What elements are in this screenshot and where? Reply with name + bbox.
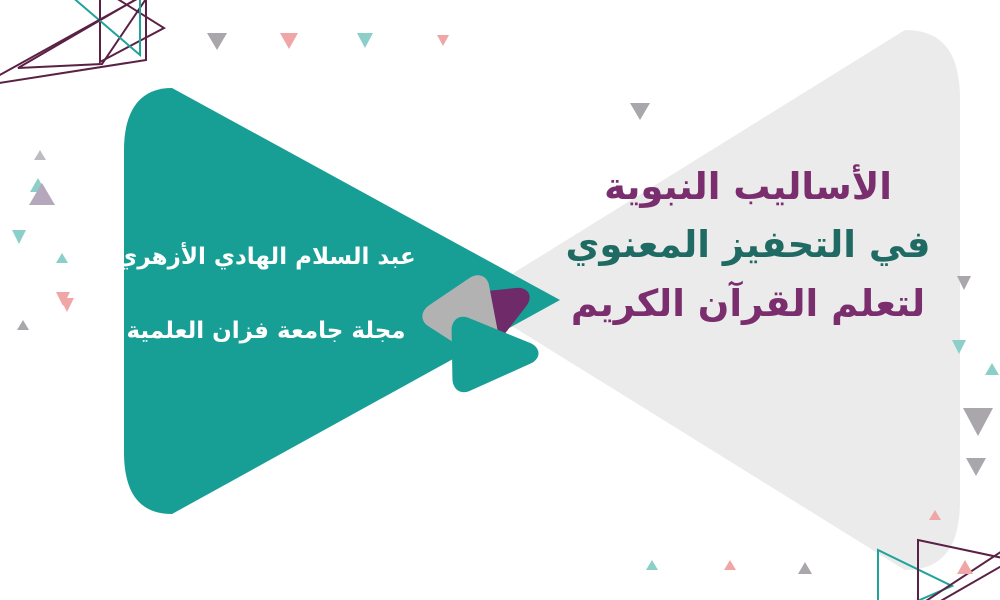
title-line-2: في التحفيز المعنوي [558, 216, 938, 274]
confetti-triangle-up [646, 560, 658, 570]
author-info: عبد السلام الهادي الأزهري مجلة جامعة فزا… [96, 243, 436, 347]
confetti-triangle-down [207, 33, 227, 50]
confetti-triangle-up [798, 562, 812, 574]
confetti-triangle-down [963, 408, 993, 436]
title-line-1: الأساليب النبوية [558, 158, 938, 216]
confetti-triangle-down [280, 33, 298, 49]
author-name: عبد السلام الهادي الأزهري [96, 243, 436, 273]
confetti-triangle-down [357, 33, 373, 48]
confetti-triangle-down [630, 103, 650, 120]
journal-name: مجلة جامعة فزان العلمية [96, 317, 436, 347]
outline-triangle-tl-purple-3 [0, 0, 146, 86]
article-title: الأساليب النبوية في التحفيز المعنوي لتعل… [558, 158, 938, 333]
confetti-triangle-up [29, 183, 55, 205]
title-line-3: لتعلم القرآن الكريم [558, 275, 938, 333]
confetti-triangle-up [724, 560, 736, 570]
outline-triangle-tl-purple [18, 0, 152, 68]
confetti-triangle-up [957, 560, 973, 574]
outline-triangles-top-left [0, 0, 164, 86]
confetti-triangle-up [56, 253, 68, 263]
confetti-triangle-down [437, 35, 449, 46]
confetti-triangle-down [12, 230, 26, 244]
confetti-triangle-up [985, 363, 999, 375]
cover-card: الأساليب النبوية في التحفيز المعنوي لتعل… [0, 0, 1000, 600]
confetti-triangle-up [17, 320, 29, 330]
confetti-triangle-down [966, 458, 986, 476]
confetti-triangle-up [34, 150, 46, 160]
